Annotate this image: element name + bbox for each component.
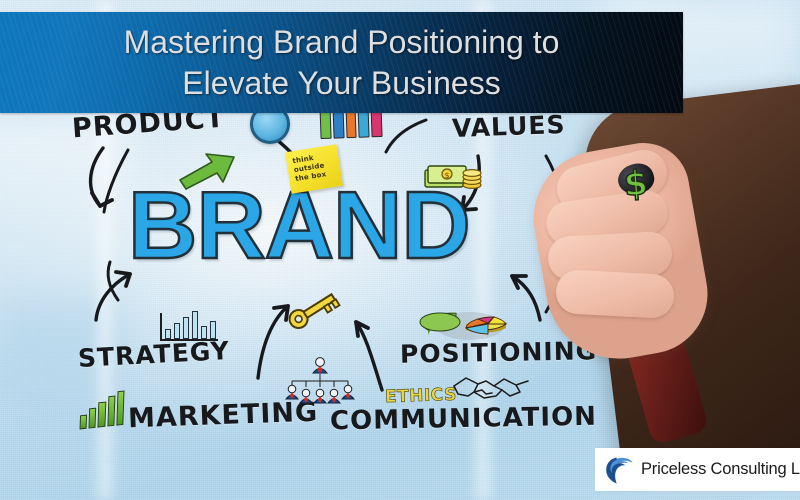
svg-text:$: $ bbox=[444, 171, 449, 180]
priceless-swoosh-icon bbox=[604, 455, 634, 485]
logo[interactable]: Priceless Consulting LLC bbox=[595, 448, 800, 491]
logo-text: Priceless Consulting LLC bbox=[641, 460, 800, 479]
key-icon bbox=[284, 288, 342, 332]
dollar-sign-icon: $ bbox=[623, 163, 649, 205]
sticky-note-text: think outside the box bbox=[292, 154, 327, 183]
title-line-1: Mastering Brand Positioning to bbox=[124, 22, 560, 62]
org-chart-icon bbox=[270, 355, 370, 405]
sticky-note-icon: think outside the box bbox=[285, 144, 343, 194]
title-banner: Mastering Brand Positioning to Elevate Y… bbox=[0, 12, 683, 113]
green-bars-icon bbox=[80, 393, 125, 430]
title-line-2: Elevate Your Business bbox=[182, 63, 500, 103]
image-canvas: BRAND PRODUCT VALUES STRATEGY MARKETING … bbox=[0, 0, 800, 500]
bar-chart-icon bbox=[160, 313, 218, 341]
label-values: VALUES bbox=[452, 110, 566, 143]
money-icon: $ bbox=[424, 160, 482, 192]
pie-chart-icon bbox=[414, 296, 514, 346]
handshake-icon bbox=[452, 372, 530, 406]
green-arrow-icon bbox=[178, 150, 238, 190]
label-ethics: ETHICS bbox=[385, 385, 457, 407]
title-text-block: Mastering Brand Positioning to Elevate Y… bbox=[0, 12, 683, 113]
label-communication: COMMUNICATION bbox=[330, 402, 597, 437]
finger bbox=[555, 269, 675, 319]
